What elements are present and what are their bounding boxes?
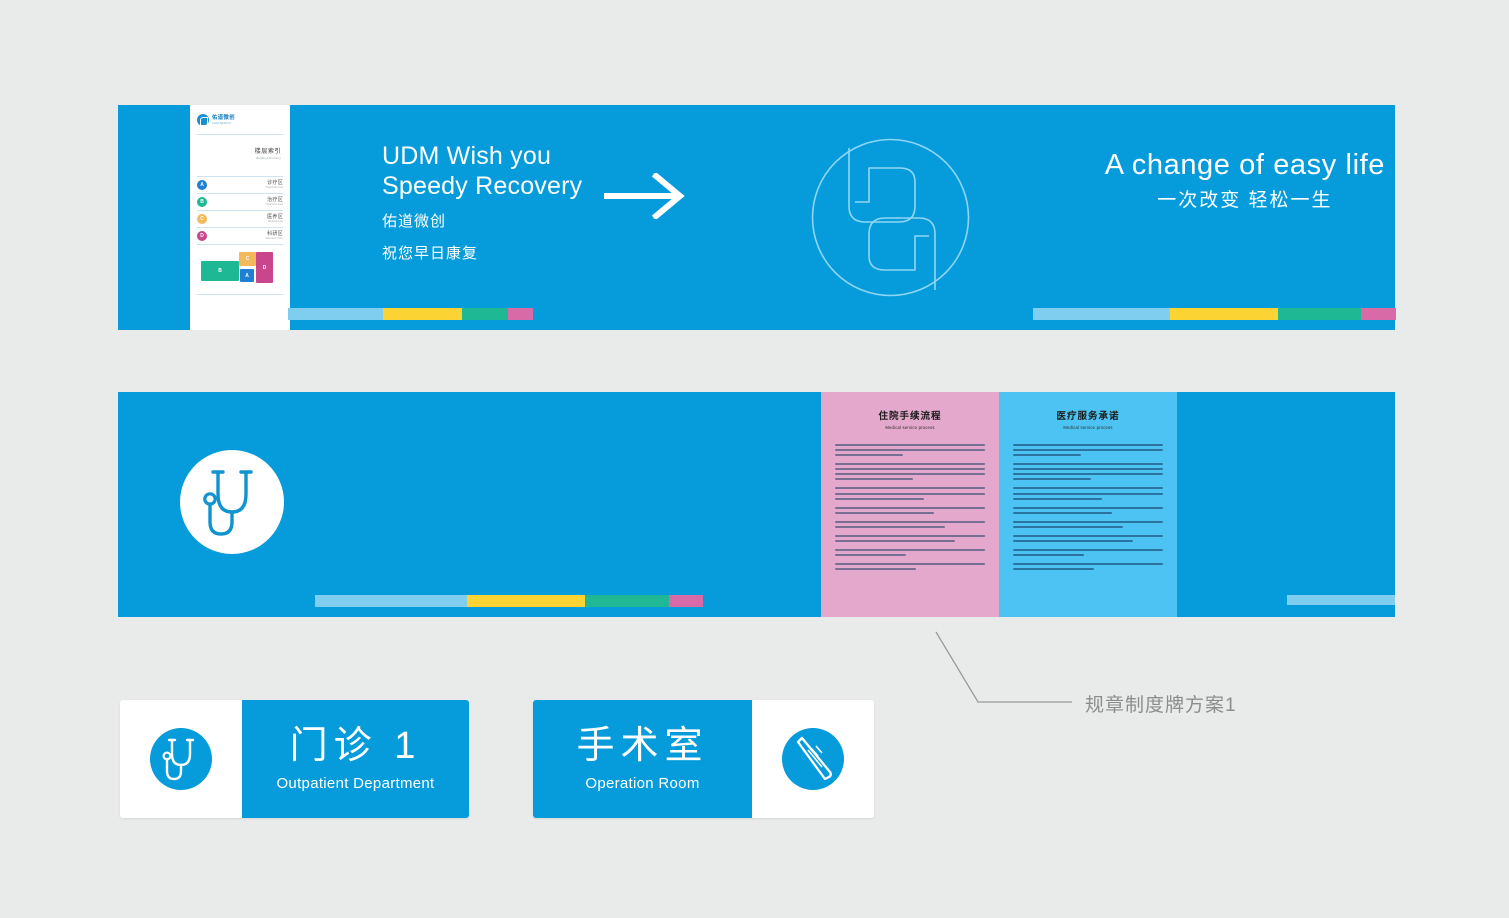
- sign-label-cn: 手术室: [576, 724, 708, 768]
- divider: [197, 134, 283, 135]
- text-line: [835, 512, 934, 514]
- text-line: [835, 493, 985, 495]
- rules-panel-body: [1013, 444, 1163, 570]
- text-line: [835, 526, 945, 528]
- callout-label: 规章制度牌方案1: [1085, 690, 1237, 717]
- directory-title: 楼层索引 Building directory: [197, 148, 283, 160]
- text-line: [835, 549, 985, 551]
- rules-panel-subtitle: Medical service process: [835, 424, 985, 431]
- sign-label-cn: 门诊 1: [290, 724, 422, 768]
- admission-paragraph-6: [835, 535, 985, 542]
- text-line: [1013, 493, 1163, 495]
- map-block-d: D: [256, 252, 273, 283]
- directory-title-cn: 楼层索引: [199, 148, 281, 156]
- brand-logo: 佑道微创 UDAO MEDICAL: [197, 113, 283, 127]
- stripe-segment-1: [1170, 308, 1278, 320]
- directory-title-en: Building directory: [199, 156, 281, 160]
- text-line: [1013, 478, 1091, 480]
- text-line: [1013, 507, 1163, 509]
- admission-paragraph-1: [835, 444, 985, 456]
- text-line: [835, 540, 955, 542]
- pledge-paragraph-3: [1013, 487, 1163, 499]
- brand-wordmark: 佑道微创 UDAO MEDICAL: [212, 115, 235, 125]
- banner2-blue-field: [118, 392, 821, 617]
- text-line: [1013, 535, 1163, 537]
- door-sign-operation-room: 手术室 Operation Room: [533, 700, 874, 818]
- stripe-segment-1: [383, 308, 462, 320]
- building-directory-card: 佑道微创 UDAO MEDICAL 楼层索引 Building director…: [190, 105, 290, 330]
- text-line: [1013, 487, 1163, 489]
- tagline-en: A change of easy life: [1105, 147, 1385, 183]
- sign-text-pane: 门诊 1 Outpatient Department: [242, 700, 469, 818]
- banner2-plain-panel: [1177, 392, 1395, 617]
- sign-icon-pane: [120, 700, 242, 818]
- text-line: [835, 521, 985, 523]
- text-line: [1013, 473, 1163, 475]
- text-line: [1013, 463, 1163, 465]
- headline-cn-line2: 祝您早日康复: [382, 243, 582, 265]
- headline-right: A change of easy life 一次改变 轻松一生: [1105, 147, 1385, 216]
- map-block-b: B: [201, 261, 239, 281]
- stripe-segment-2: [1278, 308, 1361, 320]
- rules-panel-title: 住院手续流程: [835, 410, 985, 423]
- text-line: [1013, 454, 1081, 456]
- zone-label-en: Research Area: [266, 237, 283, 240]
- udm-monogram-icon: [803, 130, 978, 305]
- zone-badge-b: B: [197, 197, 207, 207]
- zone-label-en: Treatment Area: [265, 203, 283, 206]
- banner-wall-2: 住院手续流程 Medical service process 医疗服务承诺 Me…: [118, 392, 1395, 617]
- admission-paragraph-4: [835, 507, 985, 514]
- stripe-segment-2: [585, 595, 669, 607]
- stethoscope-badge: [150, 728, 212, 790]
- headline-cn-line1: 佑道微创: [382, 211, 582, 233]
- brand-name-en: UDAO MEDICAL: [212, 122, 235, 125]
- map-block-a: A: [240, 269, 254, 282]
- directory-row-list: A诊疗区Diagnosis AreaB治疗区Treatment AreaC医养区…: [197, 177, 283, 245]
- color-stripe-bar-left: [288, 308, 533, 320]
- color-stripe-bar: [315, 595, 703, 607]
- accent-stripe: [1287, 595, 1395, 605]
- admission-paragraph-5: [835, 521, 985, 528]
- directory-row-d: D科研区Research Area: [197, 228, 283, 244]
- zone-label-en: Diagnosis Area: [266, 186, 283, 189]
- text-line: [1013, 444, 1163, 446]
- text-line: [835, 487, 985, 489]
- text-line: [1013, 568, 1094, 570]
- stripe-segment-3: [669, 595, 703, 607]
- divider: [197, 244, 283, 245]
- directory-row-b: B治疗区Treatment Area: [197, 194, 283, 210]
- pledge-paragraph-7: [1013, 549, 1163, 556]
- stethoscope-badge: [180, 450, 284, 554]
- text-line: [835, 449, 985, 451]
- sign-label-en: Outpatient Department: [276, 774, 434, 794]
- stethoscope-icon: [150, 728, 212, 790]
- scalpel-badge: [782, 728, 844, 790]
- directory-row-a: A诊疗区Diagnosis Area: [197, 177, 283, 193]
- text-line: [835, 535, 985, 537]
- pledge-paragraph-5: [1013, 521, 1163, 528]
- stripe-segment-2: [462, 308, 508, 320]
- zone-badge-c: C: [197, 214, 207, 224]
- stethoscope-icon: [180, 450, 284, 554]
- pledge-paragraph-6: [1013, 535, 1163, 542]
- text-line: [835, 454, 903, 456]
- rules-panel-title: 医疗服务承诺: [1013, 410, 1163, 423]
- rules-panel-subtitle: Medical service process: [1013, 424, 1163, 431]
- map-block-c: C: [239, 252, 256, 266]
- zone-labels: 治疗区Treatment Area: [265, 197, 283, 206]
- directory-row-c: C医养区Medical Area: [197, 211, 283, 227]
- zone-labels: 医养区Medical Area: [267, 214, 283, 223]
- rules-panel-service-pledge: 医疗服务承诺 Medical service process: [999, 392, 1177, 617]
- callout-leader-line: [920, 612, 1090, 712]
- text-line: [835, 568, 916, 570]
- pledge-paragraph-2: [1013, 463, 1163, 480]
- brand-name-cn: 佑道微创: [212, 115, 235, 121]
- stripe-segment-3: [508, 308, 533, 320]
- text-line: [1013, 449, 1163, 451]
- udm-logo-icon: [197, 114, 209, 126]
- color-stripe-bar-right: [1033, 308, 1396, 320]
- headline-en-line1: UDM Wish you: [382, 141, 582, 171]
- text-line: [1013, 540, 1133, 542]
- text-line: [835, 478, 913, 480]
- door-sign-outpatient: 门诊 1 Outpatient Department: [120, 700, 469, 818]
- arrow-right-icon: [604, 173, 686, 219]
- headline-left: UDM Wish you Speedy Recovery 佑道微创 祝您早日康复: [382, 141, 582, 265]
- text-line: [835, 463, 985, 465]
- admission-paragraph-7: [835, 549, 985, 556]
- text-line: [1013, 554, 1084, 556]
- sign-icon-pane: [752, 700, 874, 818]
- text-line: [835, 444, 985, 446]
- stripe-segment-3: [1361, 308, 1396, 320]
- text-line: [835, 563, 985, 565]
- sign-label-en: Operation Room: [585, 774, 699, 794]
- text-line: [835, 473, 985, 475]
- zone-labels: 诊疗区Diagnosis Area: [266, 180, 283, 189]
- stripe-segment-1: [467, 595, 585, 607]
- text-line: [835, 507, 985, 509]
- stripe-segment-0: [315, 595, 467, 607]
- design-canvas: 佑道微创 UDAO MEDICAL 楼层索引 Building director…: [0, 0, 1509, 918]
- rules-panel-body: [835, 444, 985, 570]
- text-line: [835, 498, 924, 500]
- rules-panel-admission: 住院手续流程 Medical service process: [821, 392, 999, 617]
- stripe-segment-0: [288, 308, 383, 320]
- zone-badge-d: D: [197, 231, 207, 241]
- stripe-segment-0: [1033, 308, 1170, 320]
- scalpel-icon: [782, 728, 844, 790]
- divider: [197, 294, 283, 295]
- admission-paragraph-2: [835, 463, 985, 480]
- admission-paragraph-3: [835, 487, 985, 499]
- pledge-paragraph-4: [1013, 507, 1163, 514]
- pledge-paragraph-8: [1013, 563, 1163, 570]
- sign-text-pane: 手术室 Operation Room: [533, 700, 752, 818]
- text-line: [1013, 512, 1112, 514]
- pledge-paragraph-1: [1013, 444, 1163, 456]
- zone-badge-a: A: [197, 180, 207, 190]
- zone-label-en: Medical Area: [267, 220, 283, 223]
- text-line: [835, 554, 906, 556]
- text-line: [1013, 549, 1163, 551]
- headline-en-line2: Speedy Recovery: [382, 171, 582, 201]
- text-line: [1013, 521, 1163, 523]
- banner-wall-1: 佑道微创 UDAO MEDICAL 楼层索引 Building director…: [118, 105, 1395, 330]
- admission-paragraph-8: [835, 563, 985, 570]
- text-line: [835, 468, 985, 470]
- floor-map-diagram: BCAD: [197, 248, 283, 290]
- tagline-cn: 一次改变 轻松一生: [1105, 186, 1385, 216]
- text-line: [1013, 526, 1123, 528]
- text-line: [1013, 498, 1102, 500]
- zone-labels: 科研区Research Area: [266, 231, 283, 240]
- text-line: [1013, 563, 1163, 565]
- text-line: [1013, 468, 1163, 470]
